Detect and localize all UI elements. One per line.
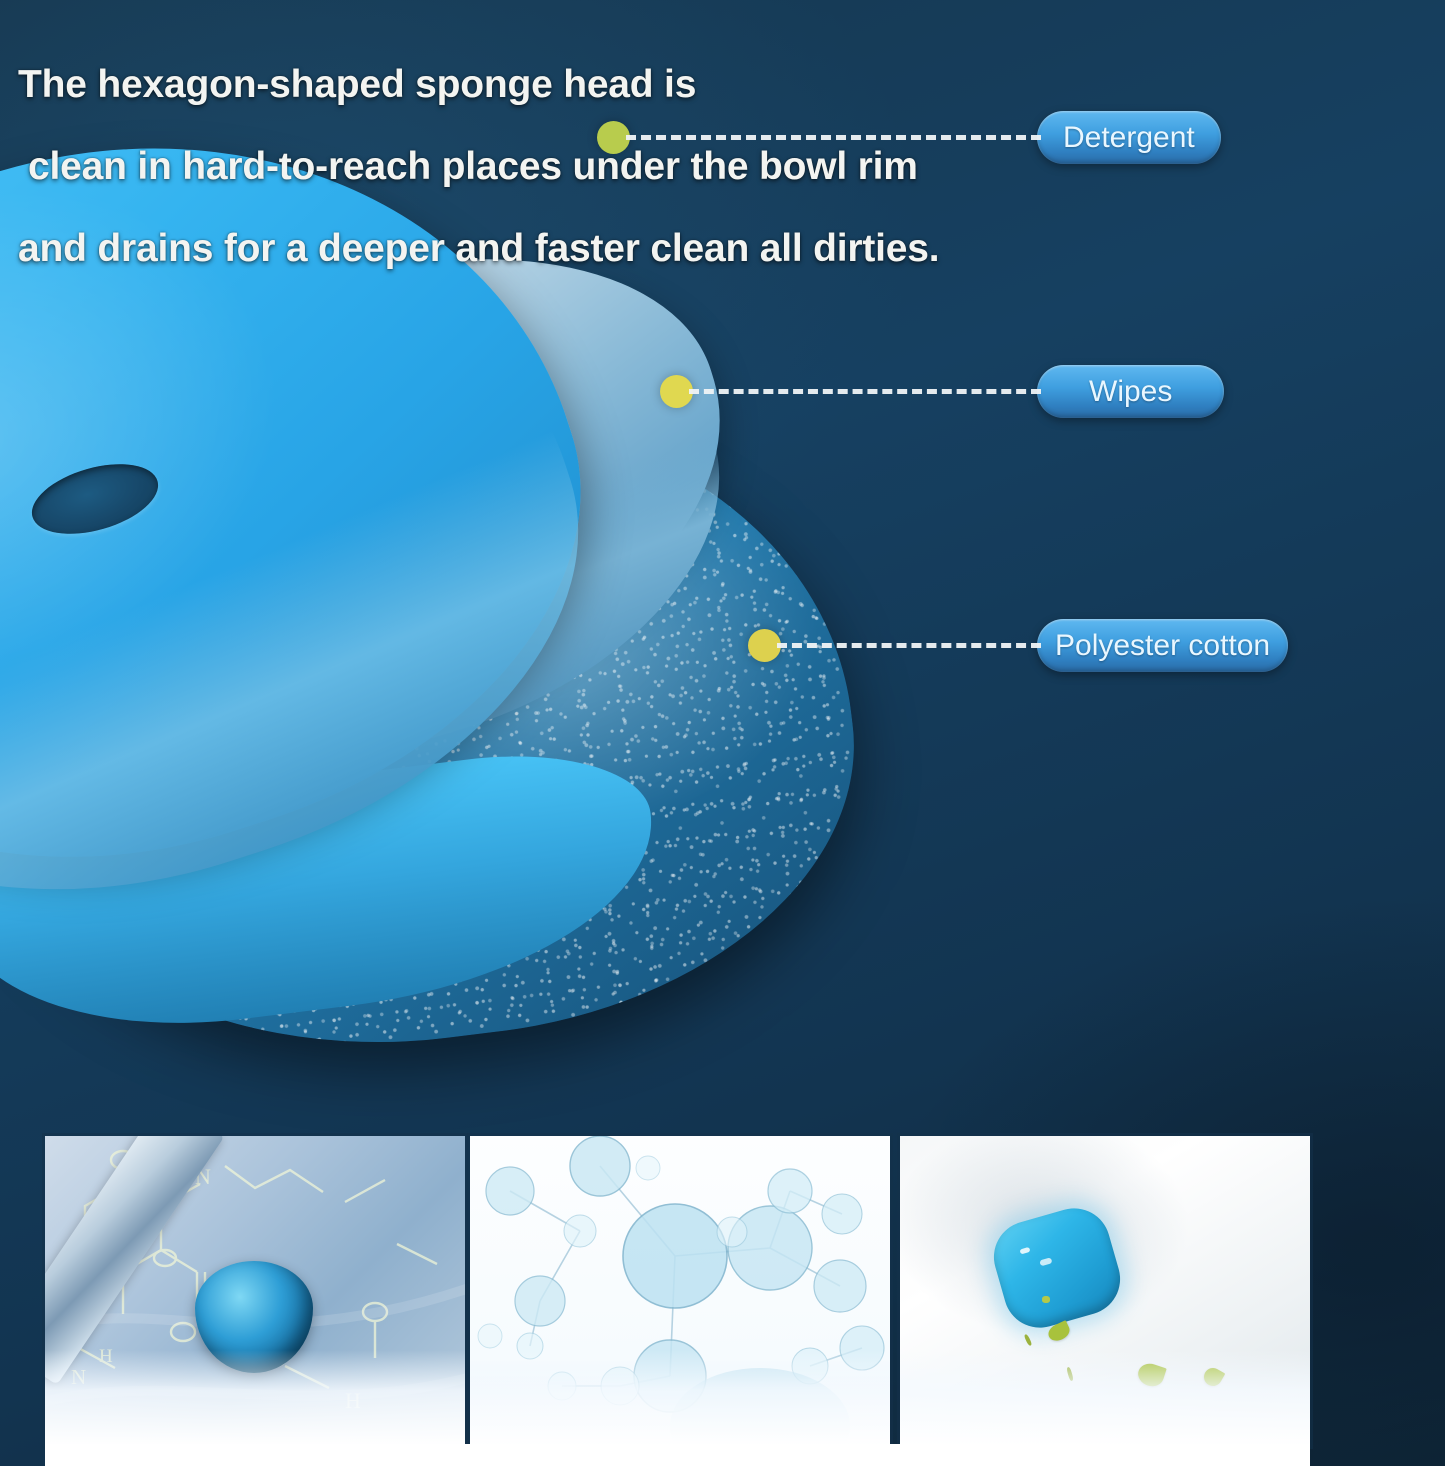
photo-water-molecules: [470, 1136, 890, 1446]
photo-chemistry-droplet: N N H H: [45, 1136, 465, 1446]
headline-line-3: and drains for a deeper and faster clean…: [18, 208, 1198, 290]
callout-wipes: Wipes: [660, 365, 1224, 418]
photo-strip: N N H H: [0, 1136, 1445, 1466]
callout-detergent: Detergent: [597, 111, 1221, 164]
badge-detergent[interactable]: Detergent: [1037, 111, 1221, 164]
photo-fade-overlay: [470, 1350, 890, 1446]
photo-strip-base: [45, 1444, 1310, 1466]
callout-line-wipes: [689, 389, 1041, 394]
leaf-debris: [1042, 1296, 1050, 1303]
headline: The hexagon-shaped sponge head is clean …: [18, 44, 1198, 290]
callout-line-polyester-cotton: [777, 643, 1041, 648]
photo-fade-overlay: [45, 1350, 465, 1446]
photo-fade-overlay: [900, 1350, 1310, 1446]
callout-polyester-cotton: Polyester cotton: [748, 619, 1288, 672]
badge-polyester-cotton[interactable]: Polyester cotton: [1037, 619, 1288, 672]
photo-toilet-gel-stamp: [900, 1136, 1310, 1446]
callout-line-detergent: [626, 135, 1041, 140]
badge-wipes[interactable]: Wipes: [1037, 365, 1224, 418]
product-infographic: The hexagon-shaped sponge head is clean …: [0, 0, 1445, 1466]
